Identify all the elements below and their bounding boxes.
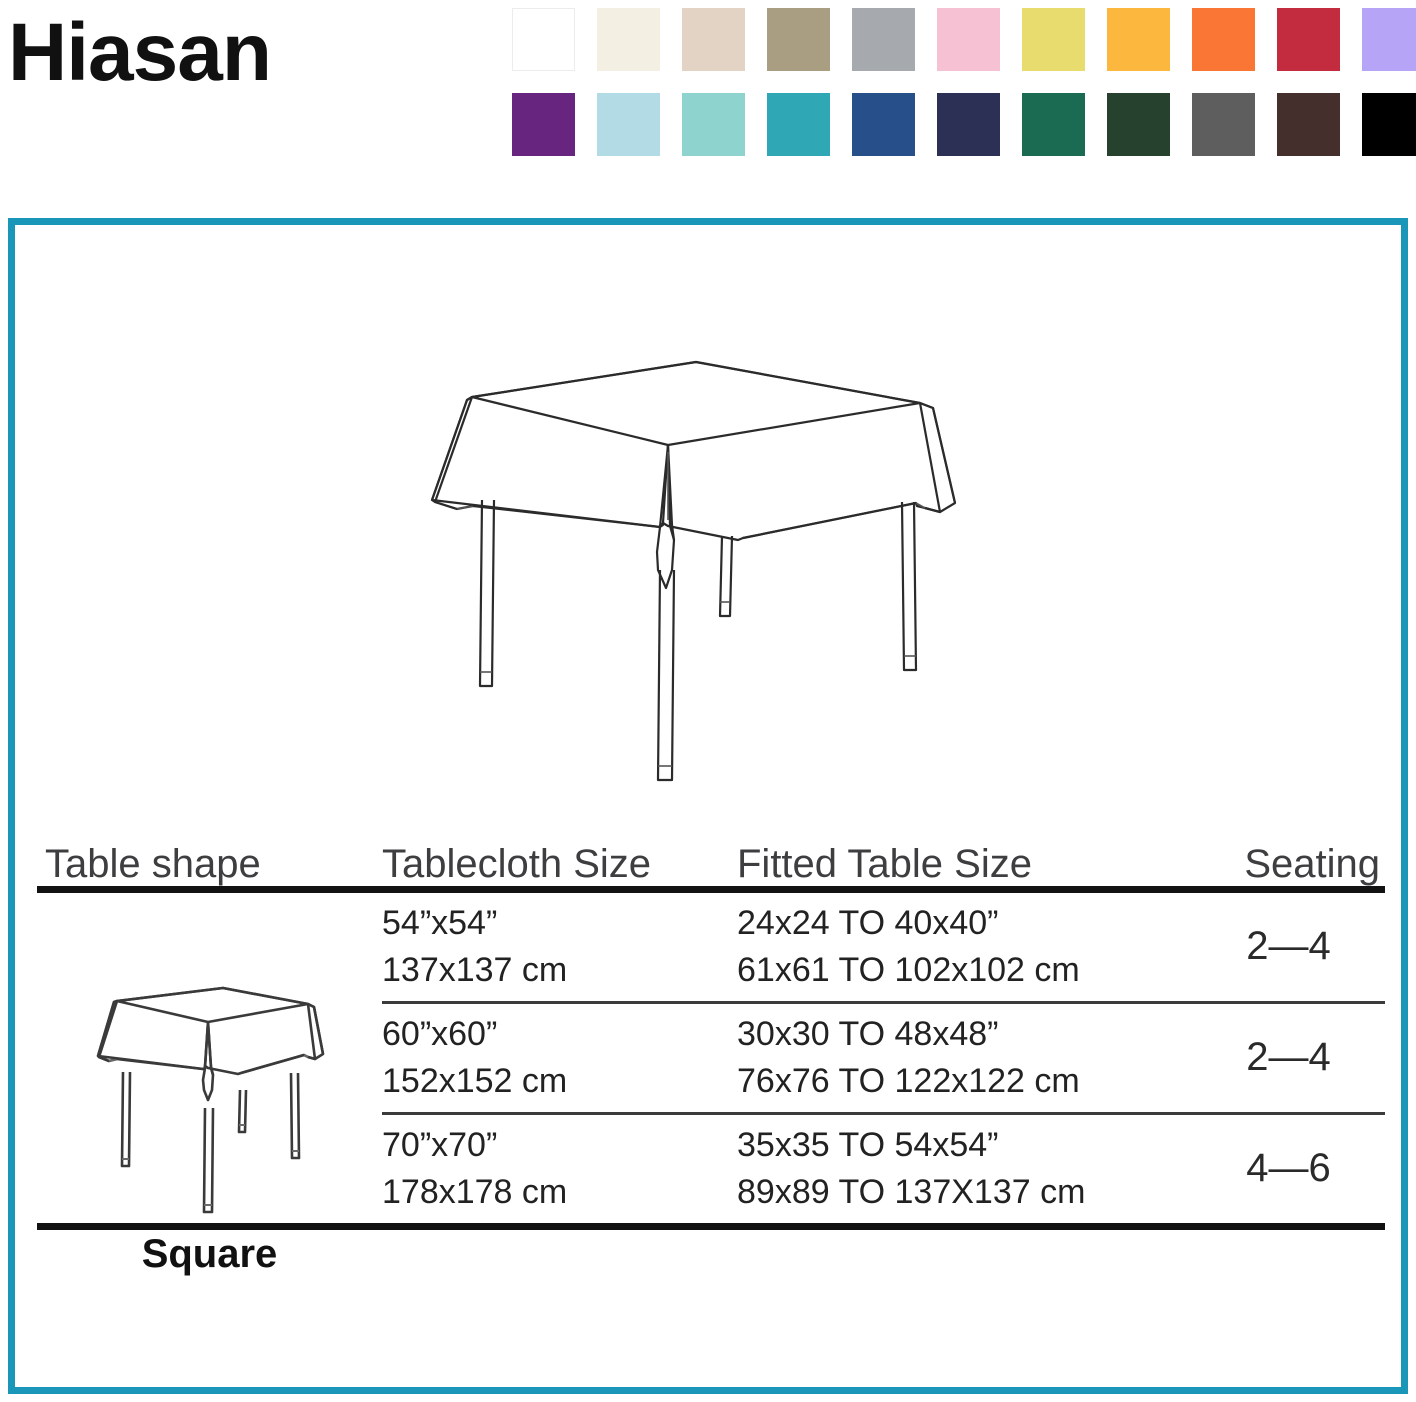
color-swatch-grid bbox=[512, 8, 1412, 178]
color-swatch-pink[interactable] bbox=[937, 8, 1000, 71]
color-swatch-row-1 bbox=[512, 8, 1412, 71]
color-swatch-teal[interactable] bbox=[767, 93, 830, 156]
color-swatch-taupe[interactable] bbox=[767, 8, 830, 71]
table-bottom-divider bbox=[37, 1223, 1385, 1230]
color-swatch-yellow[interactable] bbox=[1022, 8, 1085, 71]
color-swatch-black[interactable] bbox=[1362, 93, 1416, 156]
content-frame: Table shape Tablecloth Size Fitted Table… bbox=[8, 218, 1408, 1394]
tablecloth-size-cell: 70”x70” 178x178 cm bbox=[382, 1122, 737, 1216]
color-swatch-emerald-green[interactable] bbox=[1022, 93, 1085, 156]
tablecloth-size-cell: 60”x60” 152x152 cm bbox=[382, 1011, 737, 1105]
tablecloth-size-cm: 137x137 cm bbox=[382, 947, 737, 994]
fitted-size-inches: 24x24 TO 40x40” bbox=[737, 900, 1192, 947]
fitted-size-cm: 89x89 TO 137X137 cm bbox=[737, 1169, 1192, 1216]
fitted-size-cm: 61x61 TO 102x102 cm bbox=[737, 947, 1192, 994]
tablecloth-size-inches: 60”x60” bbox=[382, 1011, 737, 1058]
color-swatch-light-blue[interactable] bbox=[597, 93, 660, 156]
column-header-seating: Seating bbox=[1192, 844, 1385, 884]
tablecloth-size-cm: 178x178 cm bbox=[382, 1169, 737, 1216]
color-swatch-row-2 bbox=[512, 93, 1412, 156]
header-bar: Hiasan bbox=[0, 0, 1416, 200]
product-infographic: Hiasan bbox=[0, 0, 1416, 1402]
header-divider bbox=[37, 886, 1385, 893]
column-header-table-shape: Table shape bbox=[37, 844, 382, 884]
color-swatch-amber[interactable] bbox=[1107, 8, 1170, 71]
color-swatch-lavender[interactable] bbox=[1362, 8, 1416, 71]
color-swatch-navy[interactable] bbox=[937, 93, 1000, 156]
fitted-size-inches: 30x30 TO 48x48” bbox=[737, 1011, 1192, 1058]
seating-cell: 2—4 bbox=[1192, 1030, 1385, 1085]
table-row: 54”x54” 137x137 cm 24x24 TO 40x40” 61x61… bbox=[37, 893, 1385, 1001]
fitted-table-size-cell: 30x30 TO 48x48” 76x76 TO 122x122 cm bbox=[737, 1011, 1192, 1105]
color-swatch-beige[interactable] bbox=[682, 8, 745, 71]
color-swatch-white[interactable] bbox=[512, 8, 575, 71]
tablecloth-size-inches: 70”x70” bbox=[382, 1122, 737, 1169]
table-shape-label: Square bbox=[142, 1232, 278, 1277]
color-swatch-dark-gray[interactable] bbox=[1192, 93, 1255, 156]
tablecloth-size-cell: 54”x54” 137x137 cm bbox=[382, 900, 737, 994]
color-swatch-red[interactable] bbox=[1277, 8, 1340, 71]
seating-cell: 2—4 bbox=[1192, 919, 1385, 974]
table-header-row: Table shape Tablecloth Size Fitted Table… bbox=[37, 810, 1385, 886]
table-row: 70”x70” 178x178 cm 35x35 TO 54x54” 89x89… bbox=[37, 1115, 1385, 1223]
fitted-size-inches: 35x35 TO 54x54” bbox=[737, 1122, 1192, 1169]
column-header-fitted-table-size: Fitted Table Size bbox=[737, 844, 1192, 884]
fitted-table-size-cell: 24x24 TO 40x40” 61x61 TO 102x102 cm bbox=[737, 900, 1192, 994]
color-swatch-forest-green[interactable] bbox=[1107, 93, 1170, 156]
tablecloth-size-cm: 152x152 cm bbox=[382, 1058, 737, 1105]
fitted-size-cm: 76x76 TO 122x122 cm bbox=[737, 1058, 1192, 1105]
color-swatch-blue[interactable] bbox=[852, 93, 915, 156]
tablecloth-size-inches: 54”x54” bbox=[382, 900, 737, 947]
brand-logo: Hiasan bbox=[8, 12, 271, 94]
color-swatch-aqua[interactable] bbox=[682, 93, 745, 156]
color-swatch-cream[interactable] bbox=[597, 8, 660, 71]
color-swatch-gray[interactable] bbox=[852, 8, 915, 71]
fitted-table-size-cell: 35x35 TO 54x54” 89x89 TO 137X137 cm bbox=[737, 1122, 1192, 1216]
seating-cell: 4—6 bbox=[1192, 1141, 1385, 1196]
size-chart-table: Table shape Tablecloth Size Fitted Table… bbox=[37, 810, 1385, 1230]
color-swatch-dark-brown[interactable] bbox=[1277, 93, 1340, 156]
color-swatch-purple[interactable] bbox=[512, 93, 575, 156]
color-swatch-orange[interactable] bbox=[1192, 8, 1255, 71]
table-row: 60”x60” 152x152 cm 30x30 TO 48x48” 76x76… bbox=[37, 1004, 1385, 1112]
square-table-illustration bbox=[420, 340, 965, 800]
column-header-tablecloth-size: Tablecloth Size bbox=[382, 844, 737, 884]
